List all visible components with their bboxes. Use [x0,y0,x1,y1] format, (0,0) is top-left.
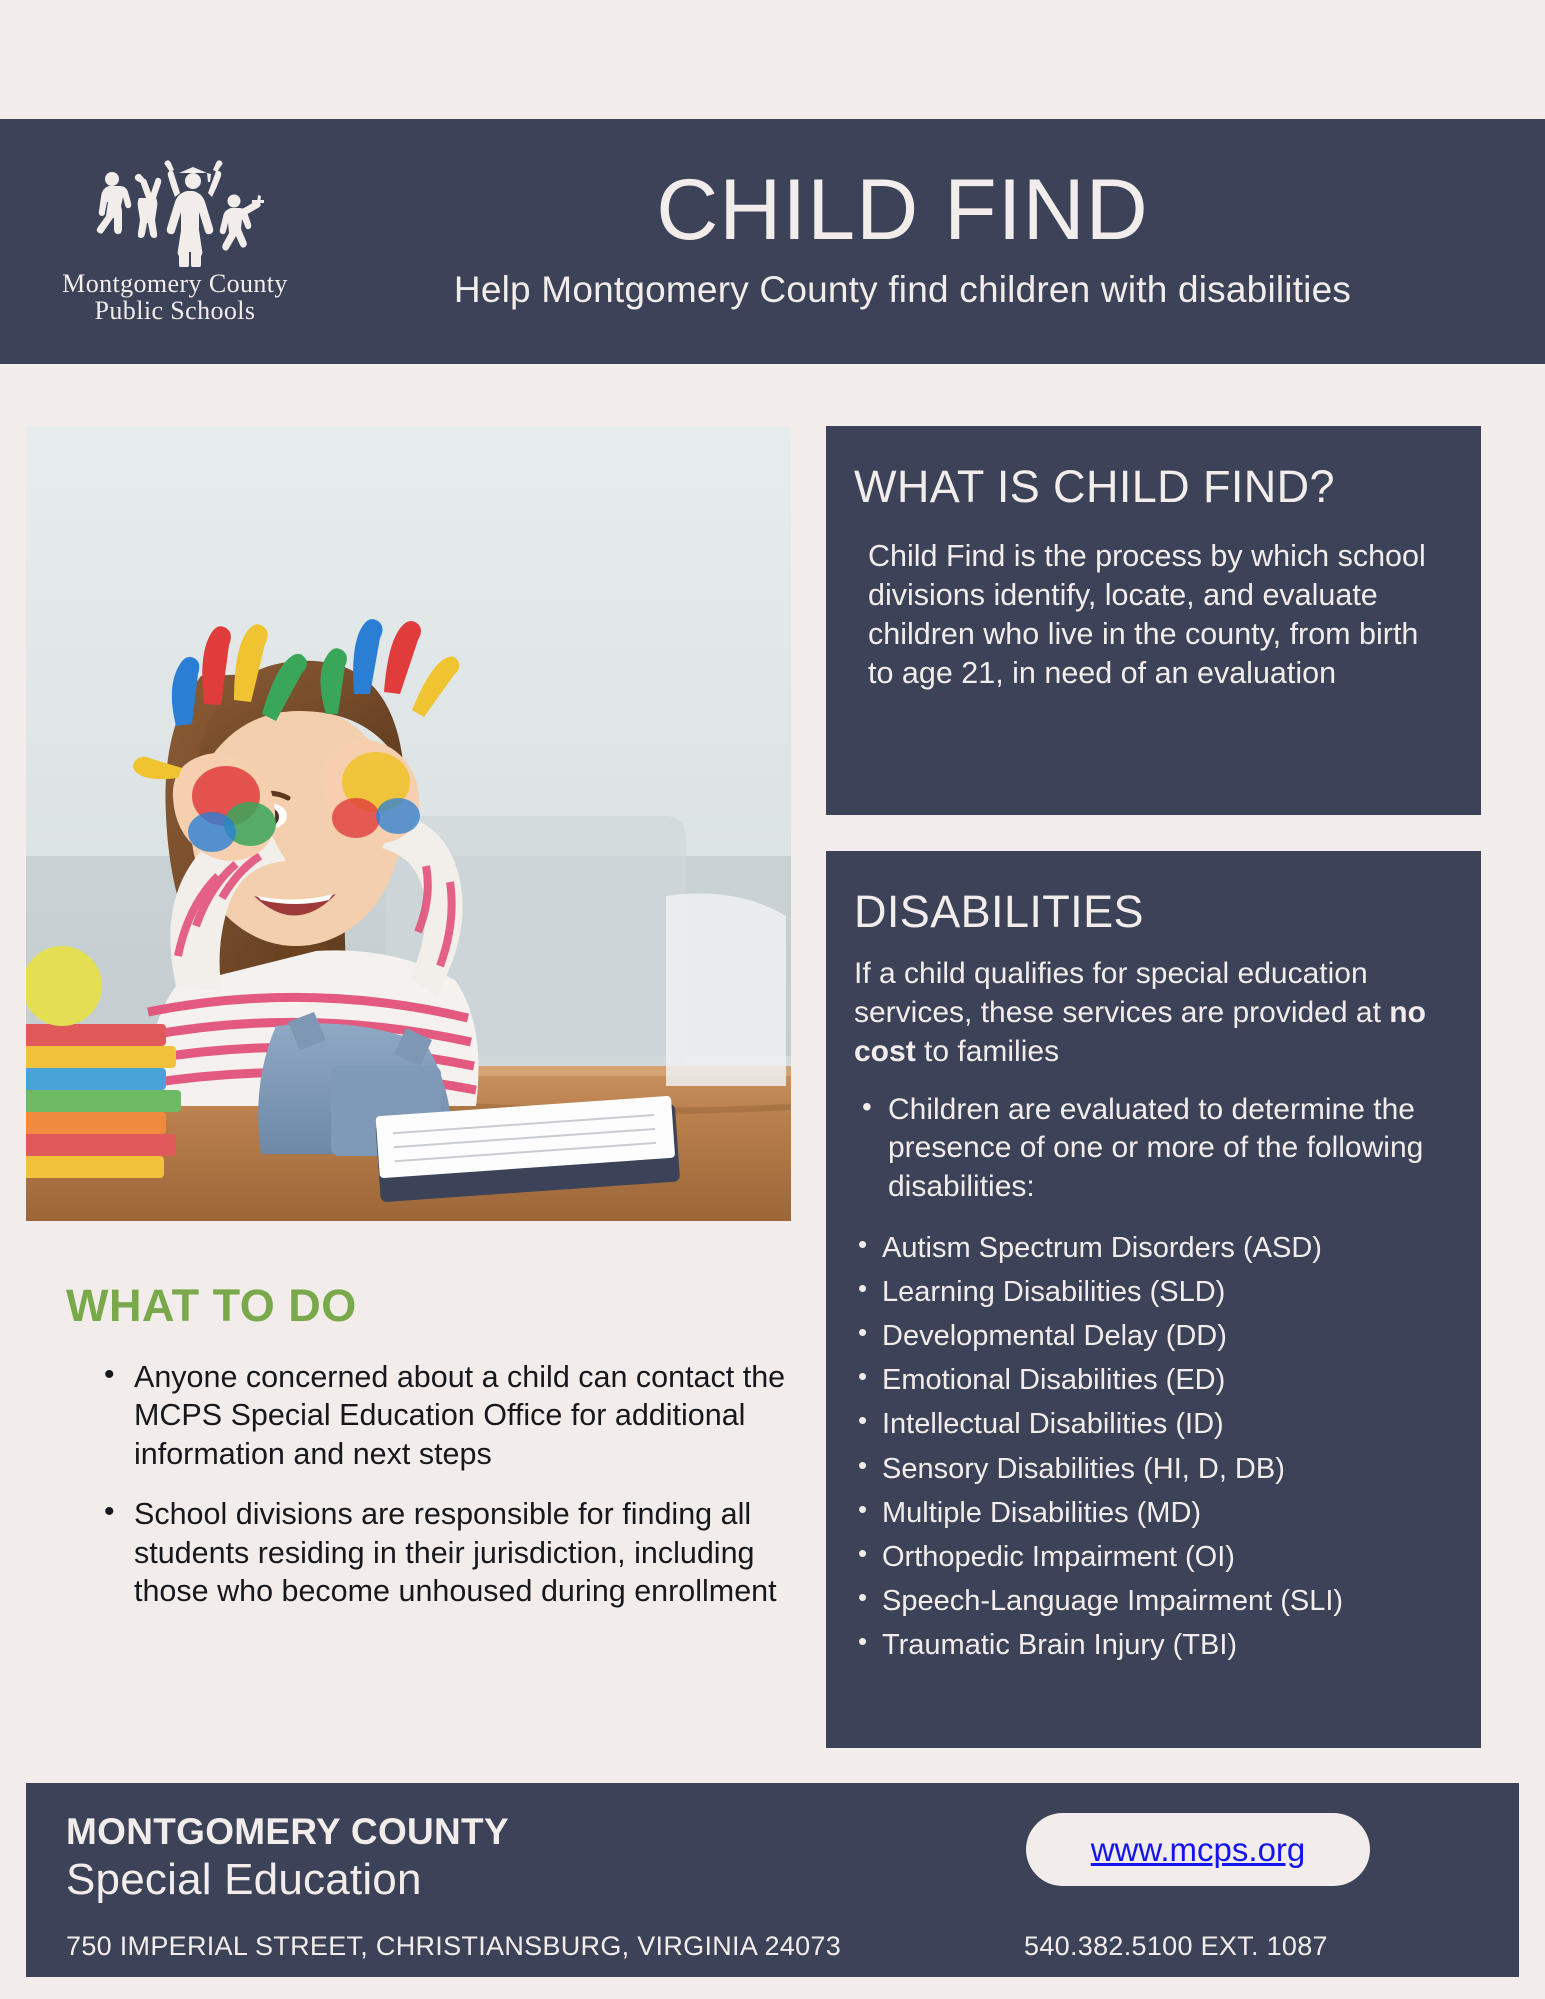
list-item: Multiple Disabilities (MD) [852,1491,1481,1535]
list-item: Emotional Disabilities (ED) [852,1358,1481,1402]
footer-org-name: MONTGOMERY COUNTY [66,1811,509,1853]
footer-phone: 540.382.5100 EXT. 1087 [1024,1931,1328,1962]
children-silhouettes-logo-icon [75,157,275,267]
footer-org-block: MONTGOMERY COUNTY Special Education [66,1811,509,1905]
what-to-do-title: WHAT TO DO [66,1280,806,1332]
page-title: CHILD FIND [300,167,1505,253]
what-to-do-list: Anyone concerned about a child can conta… [104,1358,806,1611]
list-item: Learning Disabilities (SLD) [852,1270,1481,1314]
mcps-logo: Montgomery County Public Schools [0,157,300,326]
logo-text-line2: Public Schools [95,296,256,326]
hero-photo-image [26,426,791,1221]
poster-header: Montgomery County Public Schools CHILD F… [0,119,1545,364]
disabilities-intro-part1: If a child qualifies for special educati… [854,957,1389,1029]
disabilities-intro-part2: to families [916,1035,1059,1068]
what-is-child-find-box: WHAT IS CHILD FIND? Child Find is the pr… [826,426,1481,815]
list-item: Traumatic Brain Injury (TBI) [852,1623,1481,1667]
footer-address: 750 IMPERIAL STREET, CHRISTIANSBURG, VIR… [66,1931,841,1962]
list-item: Anyone concerned about a child can conta… [104,1358,806,1473]
disabilities-intro: If a child qualifies for special educati… [826,954,1481,1071]
what-is-child-find-heading: WHAT IS CHILD FIND? [826,426,1481,513]
what-is-child-find-body: Child Find is the process by which schoo… [826,537,1481,693]
list-item: Autism Spectrum Disorders (ASD) [852,1226,1481,1270]
poster-page: Montgomery County Public Schools CHILD F… [0,0,1545,1999]
logo-text-line1: Montgomery County [62,269,288,299]
website-link[interactable]: www.mcps.org [1091,1831,1306,1869]
hero-photo [26,426,791,1221]
list-item: Sensory Disabilities (HI, D, DB) [852,1447,1481,1491]
list-item: Developmental Delay (DD) [852,1314,1481,1358]
page-subtitle: Help Montgomery County find children wit… [300,269,1505,311]
header-title-group: CHILD FIND Help Montgomery County find c… [300,167,1545,311]
list-item: Intellectual Disabilities (ID) [852,1402,1481,1446]
list-item: School divisions are responsible for fin… [104,1495,806,1610]
disabilities-box: DISABILITIES If a child qualifies for sp… [826,851,1481,1748]
poster-footer: MONTGOMERY COUNTY Special Education 750 … [26,1783,1519,1977]
footer-department: Special Education [66,1855,509,1905]
disabilities-primary-list: Children are evaluated to determine the … [854,1091,1481,1206]
website-pill[interactable]: www.mcps.org [1026,1813,1370,1886]
list-item: Orthopedic Impairment (OI) [852,1535,1481,1579]
disabilities-type-list: Autism Spectrum Disorders (ASD) Learning… [852,1226,1481,1667]
list-item: Children are evaluated to determine the … [854,1091,1481,1206]
list-item: Speech-Language Impairment (SLI) [852,1579,1481,1623]
disabilities-heading: DISABILITIES [826,851,1481,938]
what-to-do-section: WHAT TO DO Anyone concerned about a chil… [26,1280,806,1633]
